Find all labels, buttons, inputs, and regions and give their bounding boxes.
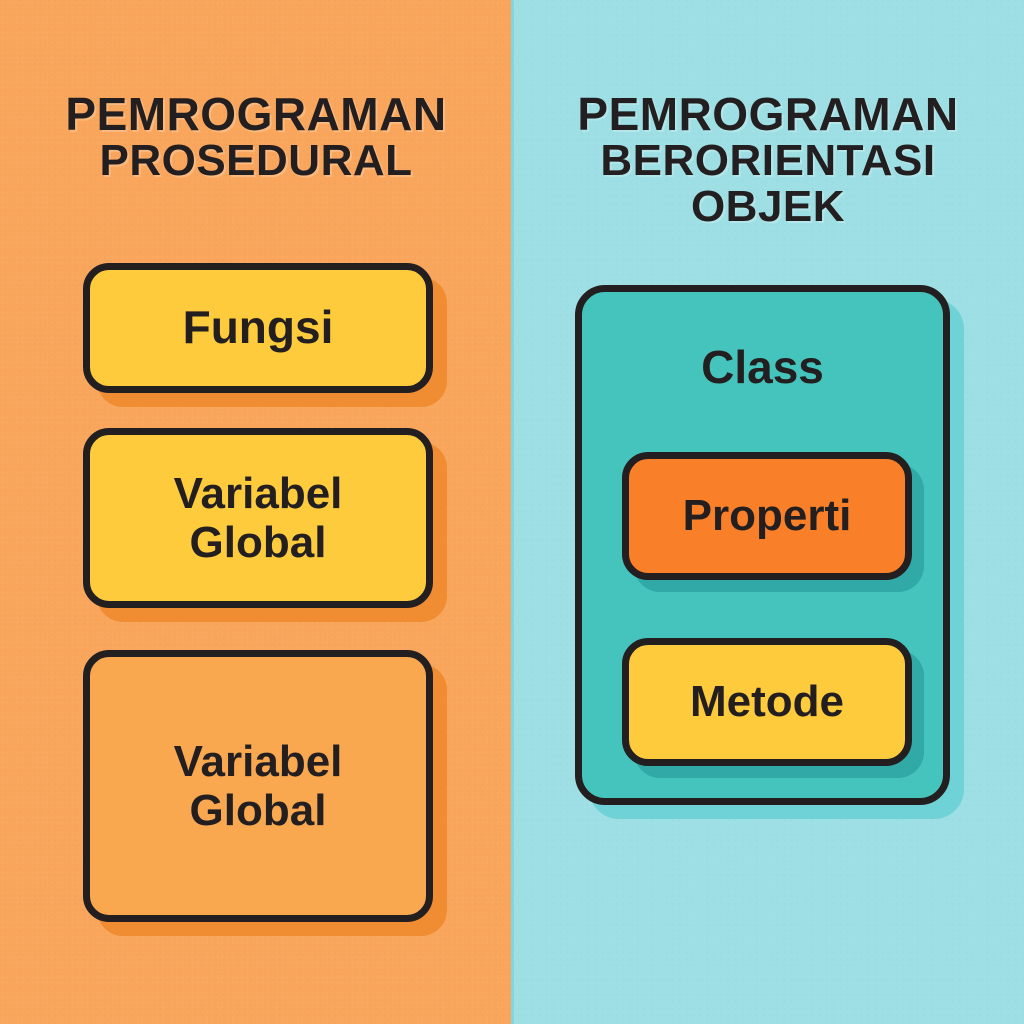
card-metode-line1: Metode <box>629 677 905 726</box>
card-variabel-global-2-line1: Variabel <box>90 737 426 786</box>
heading-oop: PEMROGRAMAN BERORIENTASI OBJEK <box>512 91 1024 229</box>
diagram-canvas: PEMROGRAMAN PROSEDURAL Fungsi Variabel G… <box>0 0 1024 1024</box>
heading-oop-line1: PEMROGRAMAN <box>512 91 1024 138</box>
panel-procedural: PEMROGRAMAN PROSEDURAL Fungsi Variabel G… <box>0 0 512 1024</box>
card-variabel-global-1-line2: Global <box>90 518 426 567</box>
card-variabel-global-2-line2: Global <box>90 786 426 835</box>
card-properti[interactable]: Properti <box>622 452 912 580</box>
heading-procedural-line1: PEMROGRAMAN <box>0 91 512 138</box>
card-properti-label: Properti <box>629 491 905 540</box>
card-properti-line1: Properti <box>629 491 905 540</box>
card-fungsi-line1: Fungsi <box>90 302 426 354</box>
card-fungsi[interactable]: Fungsi <box>83 263 433 393</box>
heading-oop-line2: BERORIENTASI <box>512 138 1024 183</box>
card-variabel-global-1-line1: Variabel <box>90 469 426 518</box>
heading-procedural: PEMROGRAMAN PROSEDURAL <box>0 91 512 184</box>
card-variabel-global-2-label: Variabel Global <box>90 737 426 836</box>
card-metode[interactable]: Metode <box>622 638 912 766</box>
card-variabel-global-1[interactable]: Variabel Global <box>83 428 433 608</box>
heading-oop-line3: OBJEK <box>512 184 1024 229</box>
panel-divider <box>511 0 514 1024</box>
card-metode-label: Metode <box>629 677 905 726</box>
heading-procedural-line2: PROSEDURAL <box>0 138 512 183</box>
card-variabel-global-1-label: Variabel Global <box>90 469 426 568</box>
card-variabel-global-2[interactable]: Variabel Global <box>83 650 433 922</box>
card-fungsi-label: Fungsi <box>90 302 426 354</box>
class-title: Class <box>582 340 943 394</box>
